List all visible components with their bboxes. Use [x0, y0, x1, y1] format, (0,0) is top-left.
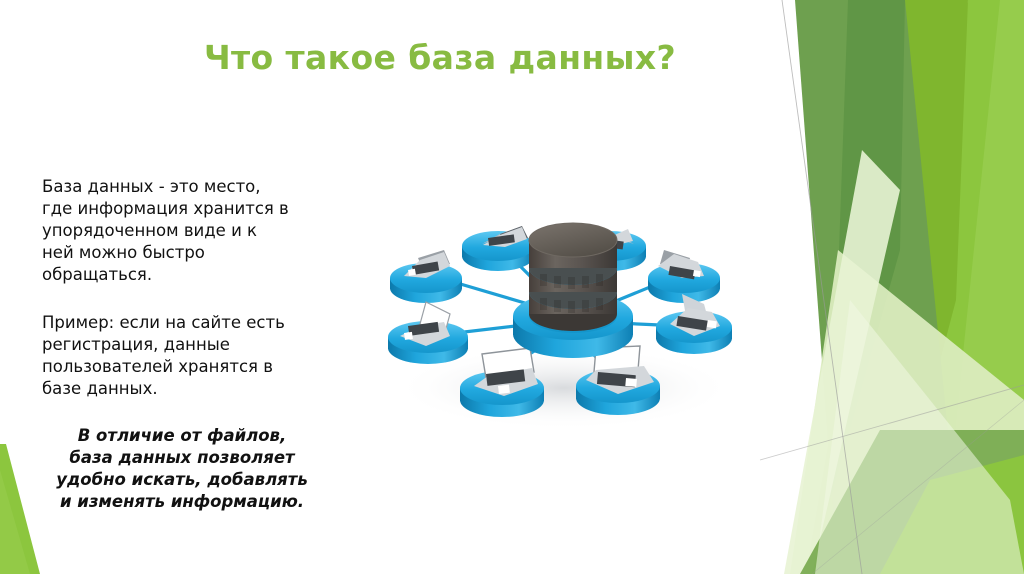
decor-poly-lime-right2: [940, 0, 1024, 574]
decor-poly-olive-lower: [800, 430, 1024, 574]
decor-poly-pale-lower: [790, 250, 1024, 574]
decor-hairline-c: [812, 400, 1024, 574]
paragraph-example: Пример: если на сайте есть регистрация, …: [42, 312, 322, 400]
decor-poly-verypale: [815, 300, 1024, 574]
decor-hairline-a: [782, 0, 862, 574]
page-title: Что такое база данных?: [0, 38, 880, 77]
slide: Что такое база данных? База данных - это…: [0, 0, 1024, 574]
decor-poly-lime-bottom: [880, 455, 1024, 574]
decor-hairline-b: [760, 385, 1024, 460]
node-laptop-right-lower: [656, 294, 732, 354]
decor-poly-pale-sliver: [784, 150, 900, 574]
node-laptop-top-left: [462, 226, 534, 271]
decor-corner-wedge-bottom-left: [0, 444, 40, 574]
decor-poly-lime-mid: [806, 0, 968, 574]
decor-poly-green-deep: [795, 0, 962, 574]
node-laptop-left-lower: [388, 302, 468, 364]
database-cylinder: [529, 223, 617, 331]
database-network-diagram: [382, 196, 746, 436]
paragraph-conclusion: В отличие от файлов, база данных позволя…: [42, 425, 322, 512]
paragraph-definition: База данных - это место, где информация …: [42, 176, 322, 286]
decor-poly-lime-right: [884, 0, 1024, 574]
body-text-column: База данных - это место, где информация …: [42, 176, 322, 513]
decor-corner-wedge-bottom-left-2: [0, 470, 30, 574]
node-laptop-left-upper: [390, 250, 462, 303]
